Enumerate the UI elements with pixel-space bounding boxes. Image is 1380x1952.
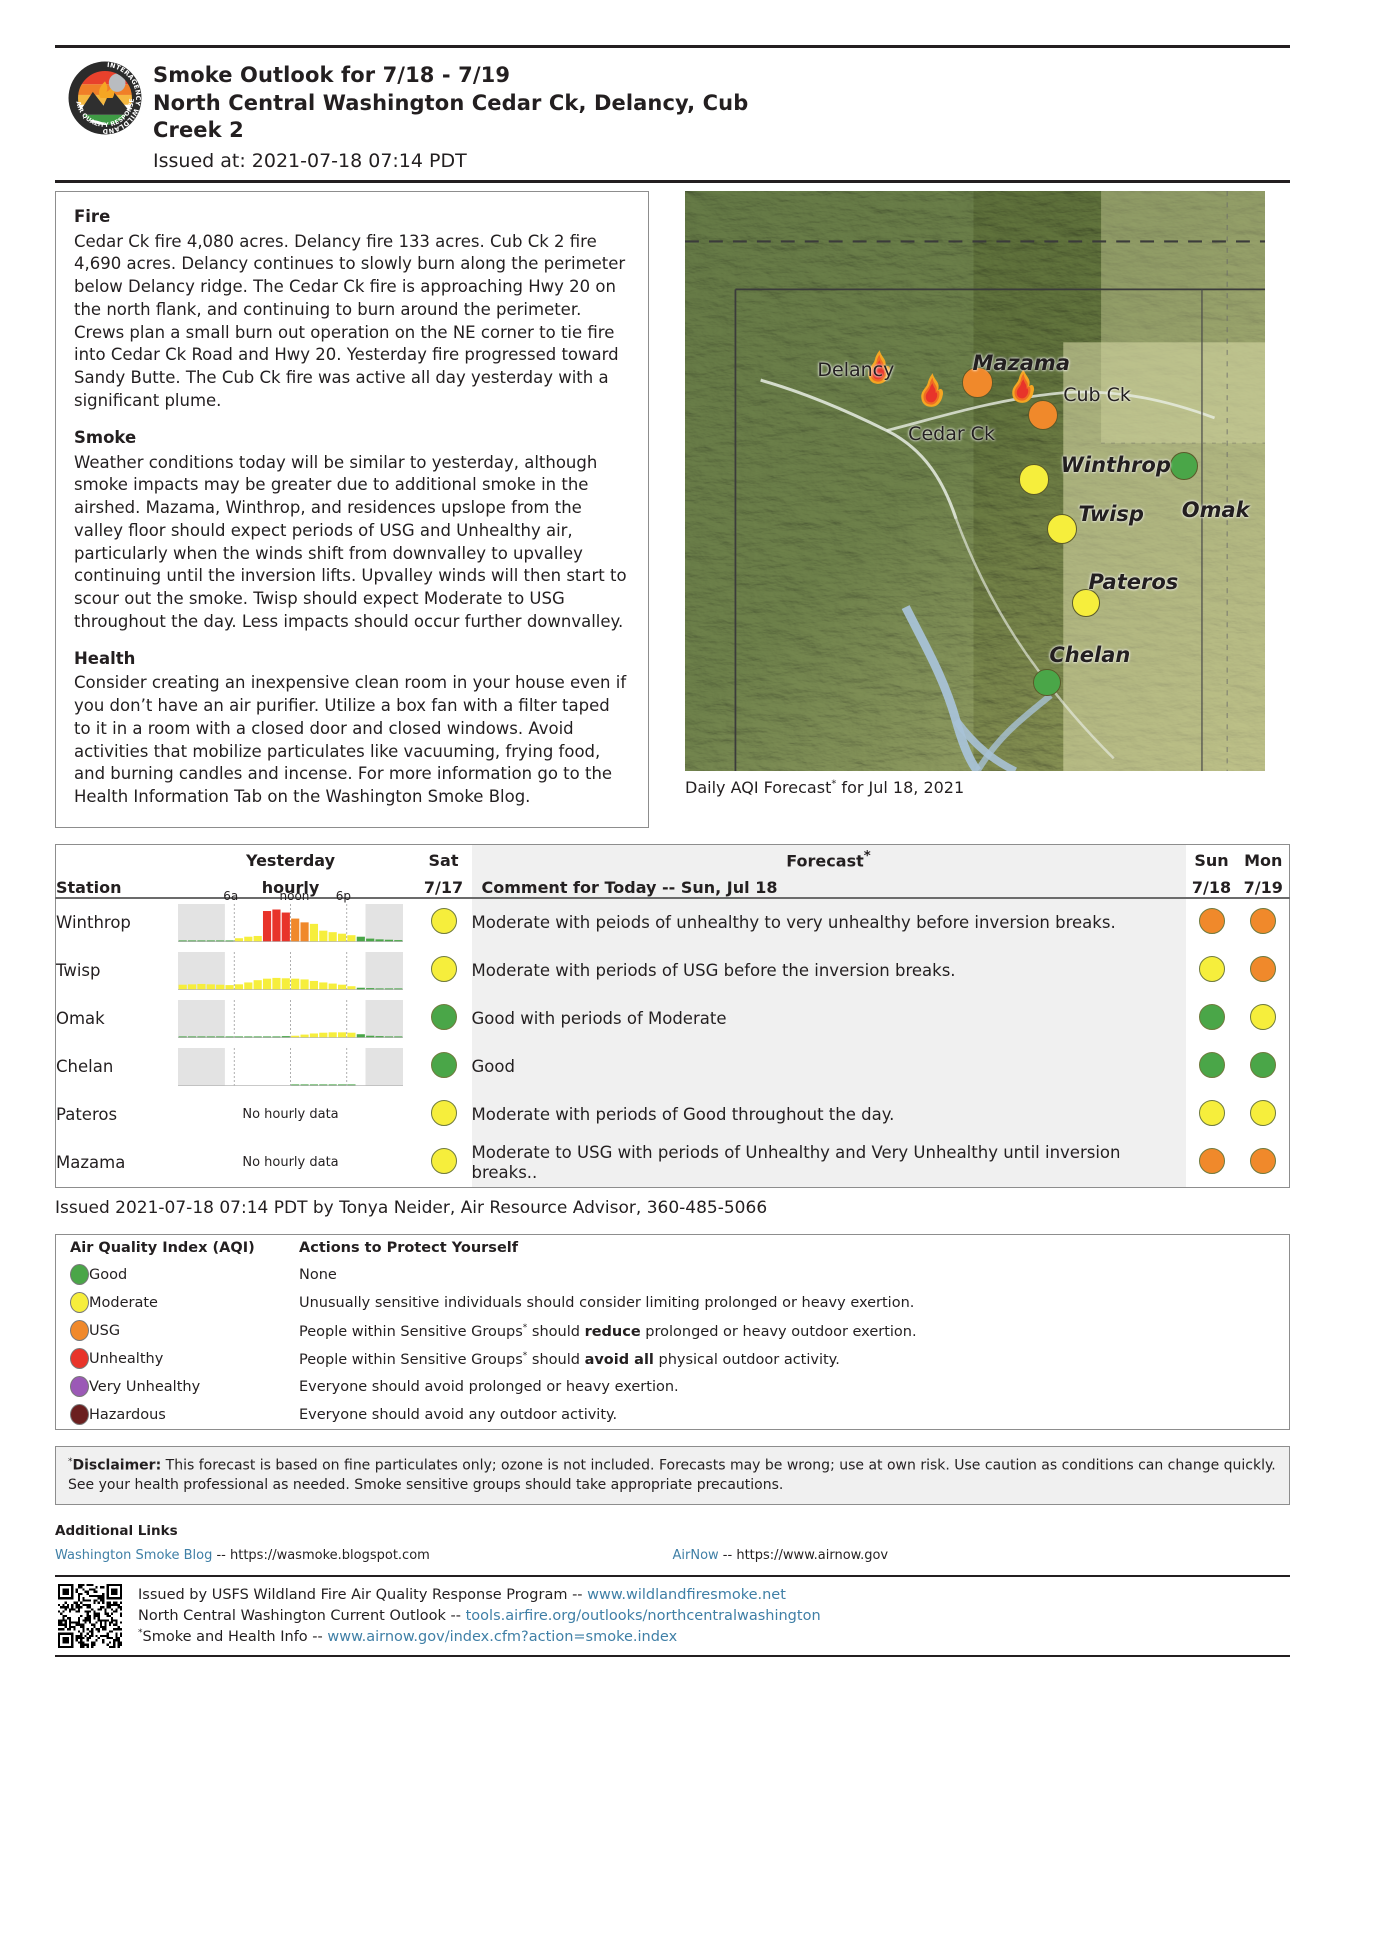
additional-link[interactable]: Washington Smoke Blog -- https://wasmoke…	[55, 1548, 673, 1563]
header-forecast-label: Forecast	[786, 851, 863, 870]
aqi-dot-mon	[1238, 1043, 1290, 1091]
aqi-legend-row: GoodNone	[56, 1261, 1290, 1289]
map-label-omak: Omak	[1182, 498, 1250, 522]
station-name: Pateros	[56, 1091, 166, 1139]
footer-links: Issued by USFS Wildland Fire Air Quality…	[138, 1585, 821, 1648]
aqi-category-name: Hazardous	[89, 1401, 299, 1430]
aqi-color-swatch	[56, 1317, 90, 1345]
footer-line: *Smoke and Health Info -- www.airnow.gov…	[138, 1627, 821, 1648]
aqi-legend-body: GoodNoneModerateUnusually sensitive indi…	[56, 1261, 1290, 1430]
aqi-dot-sat	[416, 898, 472, 947]
forecast-comment: Good	[472, 1043, 1186, 1091]
aqi-dot-sun	[1186, 995, 1238, 1043]
map-aqi-dot-twisp	[1047, 514, 1077, 544]
disclaimer-box: *Disclaimer: This forecast is based on f…	[55, 1446, 1290, 1505]
map-label-winthrop: Winthrop	[1061, 453, 1171, 477]
map-label-twisp: Twisp	[1078, 502, 1144, 526]
header-comment: Comment for Today -- Sun, Jul 18	[472, 870, 1186, 898]
header-sat: Sat	[416, 844, 472, 870]
smoke-outlook-page: INTERAGENCY WILDLAND FIRE AIR QUALITY RE…	[0, 0, 1380, 1952]
aqi-dot-sun	[1186, 947, 1238, 995]
footer-link[interactable]: www.airnow.gov/index.cfm?action=smoke.in…	[327, 1629, 677, 1645]
aqi-color-swatch	[56, 1373, 90, 1401]
sparkline-tick-noon: noon	[280, 889, 310, 903]
link-label[interactable]: Washington Smoke Blog	[55, 1548, 212, 1563]
aqi-legend-table: Air Quality Index (AQI) Actions to Prote…	[55, 1234, 1290, 1430]
header-forecast: Forecast*	[472, 844, 1186, 870]
aqi-color-swatch	[56, 1401, 90, 1430]
qr-code-icon[interactable]	[58, 1584, 122, 1648]
issued-by-line: Issued 2021-07-18 07:14 PDT by Tonya Nei…	[55, 1198, 1290, 1218]
forecast-comment: Moderate with periods of Good throughout…	[472, 1091, 1186, 1139]
narrative-panel: Fire Cedar Ck fire 4,080 acres. Delancy …	[55, 191, 649, 828]
aqi-legend-col1-header: Air Quality Index (AQI)	[56, 1234, 300, 1261]
link-label[interactable]: AirNow	[673, 1548, 719, 1563]
fire-heading: Fire	[74, 206, 630, 229]
sparkline-tick-6a: 6a	[223, 889, 238, 903]
additional-links-row: Washington Smoke Blog -- https://wasmoke…	[55, 1548, 1290, 1563]
map-terrain	[685, 191, 1265, 771]
no-hourly-data-label: No hourly data	[166, 1155, 416, 1170]
table-row: TwispModerate with periods of USG before…	[56, 947, 1290, 995]
fire-icon	[919, 373, 946, 411]
aqi-action-text: Everyone should avoid prolonged or heavy…	[299, 1373, 1290, 1401]
aqi-dot-mon	[1238, 1139, 1290, 1188]
aqi-action-text: Everyone should avoid any outdoor activi…	[299, 1401, 1290, 1430]
table-row: ChelanGood	[56, 1043, 1290, 1091]
map-aqi-dot-omak	[1170, 452, 1198, 480]
aqi-legend-row: USGPeople within Sensitive Groups* shoul…	[56, 1317, 1290, 1345]
map-aqi-dot-winthrop	[1019, 464, 1049, 494]
table-header-row-1: Yesterday Sat Forecast* Sun Mon	[56, 844, 1290, 870]
aqi-action-text: People within Sensitive Groups* should r…	[299, 1317, 1290, 1345]
aqi-category-name: Moderate	[89, 1289, 299, 1317]
aqi-color-swatch	[56, 1345, 90, 1373]
aqi-dot-sat	[416, 947, 472, 995]
smoke-text: Weather conditions today will be similar…	[74, 452, 630, 634]
station-forecast-table: Yesterday Sat Forecast* Sun Mon Station …	[55, 844, 1290, 1188]
sparkline-omak	[178, 1000, 403, 1038]
hourly-sparkline-cell: No hourly data	[166, 1091, 416, 1139]
aqi-legend-row: UnhealthyPeople within Sensitive Groups*…	[56, 1345, 1290, 1373]
link-separator: --	[719, 1548, 737, 1563]
aqi-color-swatch	[56, 1289, 90, 1317]
additional-links-section: Additional Links Washington Smoke Blog -…	[55, 1523, 1290, 1563]
aqi-dot-sun	[1186, 1043, 1238, 1091]
forecast-comment: Good with periods of Moderate	[472, 995, 1186, 1043]
hourly-sparkline-cell	[166, 995, 416, 1043]
link-url: https://wasmoke.blogspot.com	[230, 1548, 430, 1563]
station-name: Omak	[56, 995, 166, 1043]
header-mon-date: 7/19	[1238, 870, 1290, 898]
header-yesterday: Yesterday	[166, 844, 416, 870]
footer-line: North Central Washington Current Outlook…	[138, 1606, 821, 1627]
aqi-dot-sat	[416, 1139, 472, 1188]
forecast-comment: Moderate with peiods of unhealthy to ver…	[472, 898, 1186, 947]
header-sat-date: 7/17	[416, 870, 472, 898]
page-header: INTERAGENCY WILDLAND FIRE AIR QUALITY RE…	[55, 48, 1290, 180]
hourly-sparkline-cell: No hourly data	[166, 1139, 416, 1188]
aqi-dot-mon	[1238, 898, 1290, 947]
footer-line: Issued by USFS Wildland Fire Air Quality…	[138, 1585, 821, 1606]
aqi-dot-sat	[416, 1043, 472, 1091]
health-heading: Health	[74, 648, 630, 671]
header-sun: Sun	[1186, 844, 1238, 870]
sparkline-twisp	[178, 952, 403, 990]
header-forecast-asterisk: *	[864, 849, 871, 864]
aqi-legend-row: ModerateUnusually sensitive individuals …	[56, 1289, 1290, 1317]
aqi-action-text: People within Sensitive Groups* should a…	[299, 1345, 1290, 1373]
additional-link[interactable]: AirNow -- https://www.airnow.gov	[673, 1548, 1291, 1563]
aqi-dot-sun	[1186, 1091, 1238, 1139]
table-row: Winthrop6anoon6pModerate with peiods of …	[56, 898, 1290, 947]
aqi-category-name: USG	[89, 1317, 299, 1345]
map-caption-tail: for Jul 18, 2021	[836, 778, 964, 797]
disclaimer-text: This forecast is based on fine particula…	[68, 1458, 1276, 1493]
station-name: Winthrop	[56, 898, 166, 947]
hourly-sparkline-cell: 6anoon6p	[166, 898, 416, 947]
header-sun-date: 7/18	[1186, 870, 1238, 898]
table-row: MazamaNo hourly dataModerate to USG with…	[56, 1139, 1290, 1188]
no-hourly-data-label: No hourly data	[166, 1107, 416, 1122]
station-name: Twisp	[56, 947, 166, 995]
sparkline-axis: 6anoon6p	[178, 889, 403, 903]
aqi-dot-mon	[1238, 995, 1290, 1043]
aqi-action-text: None	[299, 1261, 1290, 1289]
table-row: PaterosNo hourly dataModerate with perio…	[56, 1091, 1290, 1139]
aqi-dot-mon	[1238, 947, 1290, 995]
aqi-color-swatch	[56, 1261, 90, 1289]
aqi-legend-row: Very UnhealthyEveryone should avoid prol…	[56, 1373, 1290, 1401]
aqi-dot-mon	[1238, 1091, 1290, 1139]
sparkline-winthrop: 6anoon6p	[178, 904, 403, 942]
aqi-legend-header-row: Air Quality Index (AQI) Actions to Prote…	[56, 1234, 1290, 1261]
map-caption-text: Daily AQI Forecast	[685, 778, 831, 797]
hourly-sparkline-cell	[166, 1043, 416, 1091]
aqi-dot-sat	[416, 995, 472, 1043]
aqi-category-name: Very Unhealthy	[89, 1373, 299, 1401]
aqi-forecast-map[interactable]: MazamaCub CkWinthropDelancyCedar CkTwisp…	[685, 191, 1265, 771]
disclaimer-label: Disclaimer:	[73, 1458, 162, 1474]
header-station: Station	[56, 870, 166, 898]
fire-text: Cedar Ck fire 4,080 acres. Delancy fire …	[74, 231, 630, 413]
map-label-pateros: Pateros	[1088, 570, 1178, 594]
aqi-action-text: Unusually sensitive individuals should c…	[299, 1289, 1290, 1317]
aqi-dot-sun	[1186, 1139, 1238, 1188]
page-title-line1: Smoke Outlook for 7/18 - 7/19	[153, 62, 748, 90]
aqi-legend-col2-header: Actions to Protect Yourself	[299, 1234, 1290, 1261]
page-footer: Issued by USFS Wildland Fire Air Quality…	[55, 1575, 1290, 1657]
link-separator: --	[212, 1548, 230, 1563]
aqi-dot-sun	[1186, 898, 1238, 947]
table-row: OmakGood with periods of Moderate	[56, 995, 1290, 1043]
aqi-legend-row: HazardousEveryone should avoid any outdo…	[56, 1401, 1290, 1430]
forecast-comment: Moderate to USG with periods of Unhealth…	[472, 1139, 1186, 1188]
map-label-chelan: Chelan	[1049, 643, 1130, 667]
header-bottom-rule	[55, 180, 1290, 183]
link-url: https://www.airnow.gov	[736, 1548, 888, 1563]
additional-links-title: Additional Links	[55, 1523, 1290, 1539]
sparkline-chelan	[178, 1048, 403, 1086]
page-title-line2: North Central Washington Cedar Ck, Delan…	[153, 90, 748, 118]
iwfaqrp-logo-icon: INTERAGENCY WILDLAND FIRE AIR QUALITY RE…	[67, 60, 143, 136]
map-aqi-dot-chelan	[1033, 669, 1061, 697]
page-title-line3: Creek 2	[153, 117, 748, 145]
header-mon: Mon	[1238, 844, 1290, 870]
footer-link[interactable]: tools.airfire.org/outlooks/northcentralw…	[466, 1608, 821, 1624]
health-text: Consider creating an inexpensive clean r…	[74, 672, 630, 809]
aqi-category-name: Good	[89, 1261, 299, 1289]
hourly-sparkline-cell	[166, 947, 416, 995]
issued-at-text: Issued at: 2021-07-18 07:14 PDT	[153, 149, 748, 174]
aqi-category-name: Unhealthy	[89, 1345, 299, 1373]
map-caption: Daily AQI Forecast* for Jul 18, 2021	[685, 778, 1265, 797]
station-name: Chelan	[56, 1043, 166, 1091]
forecast-comment: Moderate with periods of USG before the …	[472, 947, 1186, 995]
smoke-heading: Smoke	[74, 427, 630, 450]
map-label-mazama: Mazama	[972, 351, 1070, 375]
footer-link[interactable]: www.wildlandfiresmoke.net	[587, 1587, 786, 1603]
station-name: Mazama	[56, 1139, 166, 1188]
aqi-dot-sat	[416, 1091, 472, 1139]
station-rows-body: Winthrop6anoon6pModerate with peiods of …	[56, 898, 1290, 1188]
map-panel: MazamaCub CkWinthropDelancyCedar CkTwisp…	[685, 191, 1265, 828]
map-label-cedar-ck: Cedar Ck	[908, 423, 995, 445]
map-label-cub-ck: Cub Ck	[1063, 384, 1131, 406]
sparkline-tick-6p: 6p	[336, 889, 351, 903]
map-label-delancy: Delancy	[817, 359, 894, 381]
